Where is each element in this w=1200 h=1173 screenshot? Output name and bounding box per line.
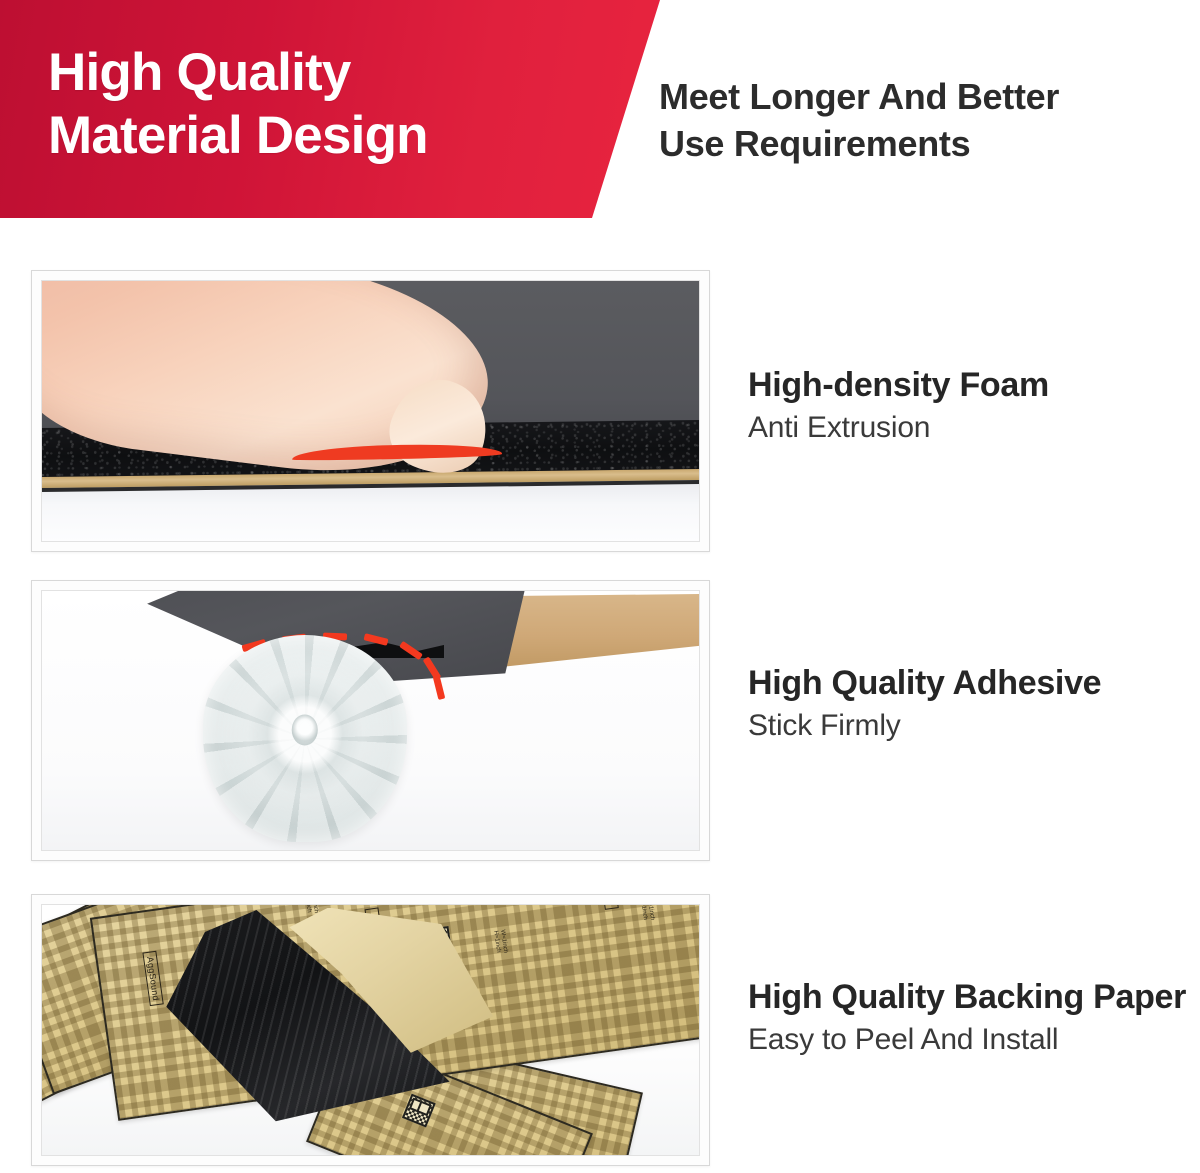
feature-caption-2: High Quality Adhesive Stick Firmly xyxy=(748,664,1196,744)
banner-title-line-1: High Quality xyxy=(48,42,608,105)
infographic-page: High Quality Material Design Meet Longer… xyxy=(0,0,1200,1173)
feature-subtitle-3: Easy to Peel And Install xyxy=(748,1022,1196,1059)
photo-backing-paper-sheets: AggSound AggSound W=1inch H=1inch AggSou… xyxy=(41,904,700,1156)
header-subtitle-line-1: Meet Longer And Better xyxy=(659,74,1189,121)
feature-caption-1: High-density Foam Anti Extrusion xyxy=(748,366,1196,446)
brand-label: AggSound xyxy=(597,904,618,910)
feature-image-frame-3: AggSound AggSound W=1inch H=1inch AggSou… xyxy=(31,894,710,1166)
grid-dimension-label: W=1inch H=1inch xyxy=(638,904,655,922)
feature-subtitle-2: Stick Firmly xyxy=(748,708,1196,745)
banner-title: High Quality Material Design xyxy=(48,42,608,167)
header-subtitle: Meet Longer And Better Use Requirements xyxy=(659,74,1189,168)
banner-title-line-2: Material Design xyxy=(48,105,608,168)
plastic-bottle-base xyxy=(203,635,407,842)
header-subtitle-line-2: Use Requirements xyxy=(659,121,1189,168)
feature-title-1: High-density Foam xyxy=(748,366,1196,406)
grid-dimension-label: W=1inch H=1inch xyxy=(491,929,508,954)
feature-title-3: High Quality Backing Paper xyxy=(748,978,1196,1018)
grid-dimension-label: W=1inch H=1inch xyxy=(302,904,319,914)
photo-finger-pressing-foam xyxy=(41,280,700,542)
feature-caption-3: High Quality Backing Paper Easy to Peel … xyxy=(748,978,1196,1058)
qr-code-icon xyxy=(402,1093,436,1127)
feature-title-2: High Quality Adhesive xyxy=(748,664,1196,704)
brand-label: AggSound xyxy=(143,951,164,1007)
feature-image-frame-2 xyxy=(31,580,710,861)
feature-image-frame-1 xyxy=(31,270,710,552)
photo-bottle-on-adhesive xyxy=(41,590,700,851)
feature-subtitle-1: Anti Extrusion xyxy=(748,410,1196,447)
bottle-center-dimple xyxy=(292,715,318,746)
